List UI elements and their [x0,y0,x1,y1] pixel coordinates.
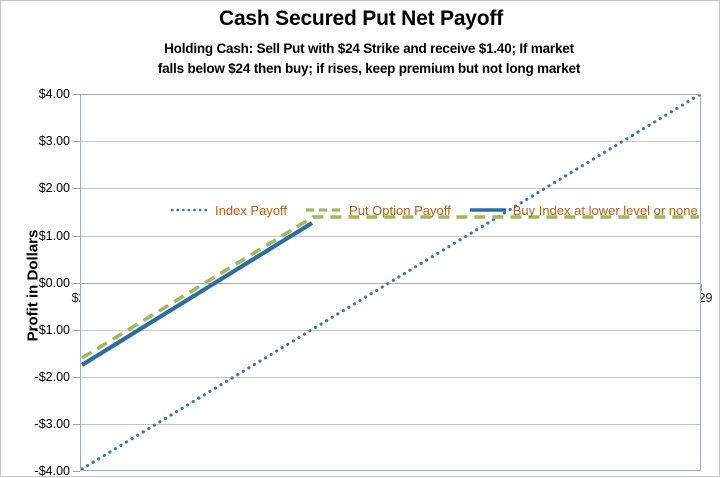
dotted-line-swatch [171,204,209,216]
legend: Index Payoff Put Option Payoff Buy Index… [171,198,716,222]
legend-label: Buy Index at lower level or none [513,203,698,218]
y-tick-mark [73,188,80,189]
chart-subtitle-line-2: falls below $24 then buy; if rises, keep… [59,59,679,79]
legend-item-index-payoff[interactable]: Index Payoff [171,203,287,218]
y-tick-label: $3.00 [8,134,70,148]
y-tick-label: $0.00 [8,276,70,290]
series-canvas [81,95,700,470]
series-put-option-payoff [82,217,699,358]
legend-item-put-option-payoff[interactable]: Put Option Payoff [305,203,451,218]
series-index-payoff [82,95,699,469]
y-tick-mark [73,330,80,331]
y-tick-mark [73,283,80,284]
y-tick-mark [73,424,80,425]
legend-label: Put Option Payoff [349,203,451,218]
chart-subtitle-line-1: Holding Cash: Sell Put with $24 Strike a… [59,39,679,59]
y-tick-mark [73,471,80,472]
legend-label: Index Payoff [215,203,287,218]
y-tick-mark [73,94,80,95]
chart-frame: Cash Secured Put Net Payoff Holding Cash… [0,0,720,477]
x-tick-mark [701,284,702,291]
solid-line-swatch [469,204,507,216]
y-tick-label: $2.00 [8,181,70,195]
chart-subtitle: Holding Cash: Sell Put with $24 Strike a… [59,39,679,79]
y-tick-label: $1.00 [8,229,70,243]
y-tick-label: -$2.00 [8,370,70,384]
y-tick-label: -$3.00 [8,417,70,431]
y-tick-mark [73,141,80,142]
dashed-line-swatch [305,204,343,216]
y-tick-label: $4.00 [8,87,70,101]
y-tick-label: -$4.00 [8,464,70,478]
series-buy-index [82,223,312,365]
plot-area: Index Payoff Put Option Payoff Buy Index… [80,94,701,471]
y-tick-label: -$1.00 [8,323,70,337]
y-tick-mark [73,236,80,237]
page-title: Cash Secured Put Net Payoff [1,7,720,31]
legend-item-buy-index[interactable]: Buy Index at lower level or none [469,203,698,218]
y-tick-mark [73,377,80,378]
